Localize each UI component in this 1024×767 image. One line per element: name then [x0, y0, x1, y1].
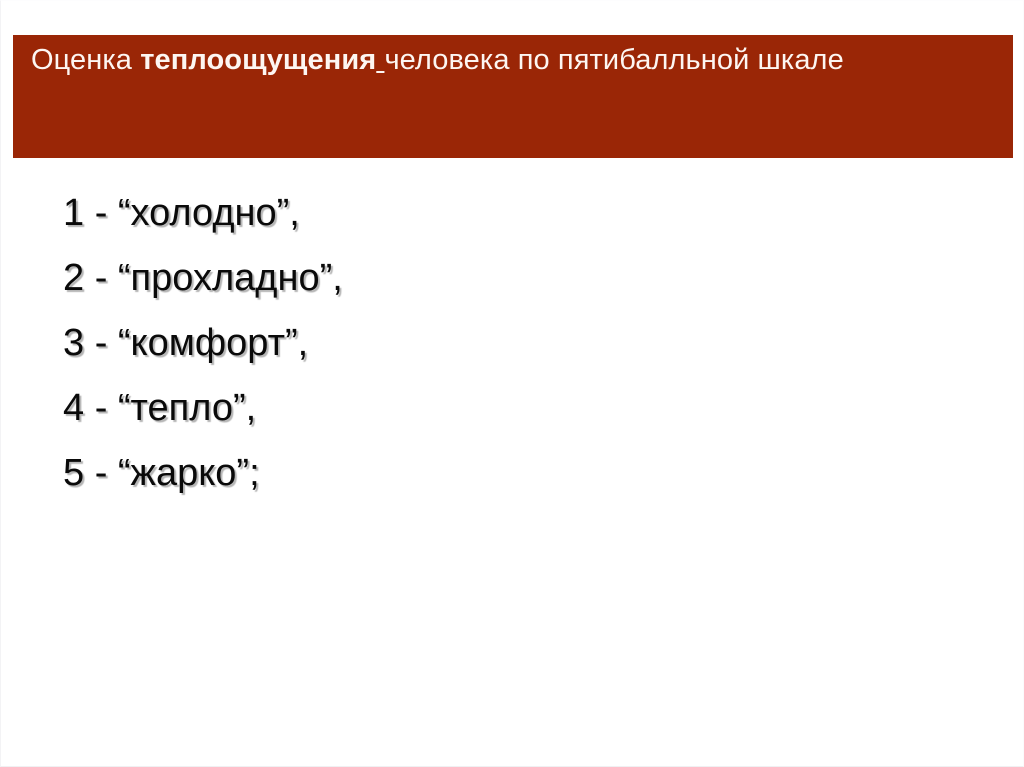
list-item: 2 - “прохладно”, [63, 246, 923, 311]
list-item: 4 - “тепло”, [63, 376, 923, 441]
slide-canvas: Оценка теплоощущения человека по пятибал… [0, 0, 1024, 767]
title-banner: Оценка теплоощущения человека по пятибал… [13, 35, 1013, 158]
title-text-plain-tail: человека по пятибалльной шкале [384, 44, 843, 76]
title-text-emphasis: теплоощущения [140, 44, 376, 76]
thermal-sensation-scale-list: 1 - “холодно”, 2 - “прохладно”, 3 - “ком… [63, 181, 923, 506]
list-item: 3 - “комфорт”, [63, 311, 923, 376]
page-title: Оценка теплоощущения человека по пятибал… [31, 41, 1001, 79]
title-text-plain-lead: Оценка [31, 44, 140, 76]
list-item: 5 - “жарко”; [63, 441, 923, 506]
list-item: 1 - “холодно”, [63, 181, 923, 246]
